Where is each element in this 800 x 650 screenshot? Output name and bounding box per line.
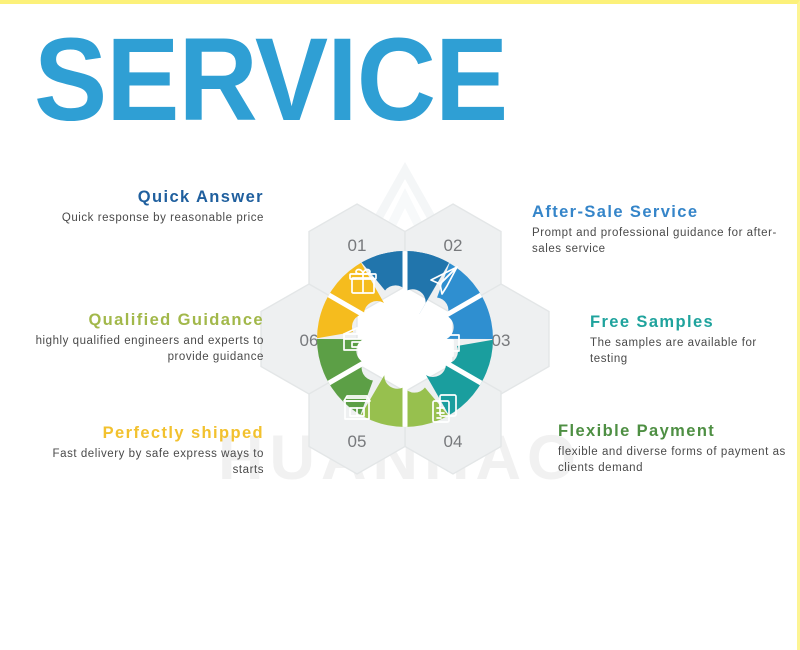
feature-body: Fast delivery by safe express ways to st… <box>20 447 264 478</box>
feature-after-sale-service: After-Sale Service Prompt and profession… <box>532 202 788 257</box>
wheel-hub <box>376 310 434 368</box>
service-infographic-slide: HUANHAO SERVICE 01 02 <box>0 0 800 650</box>
hexagon-puzzle-diagram: 01 02 03 04 05 06 <box>255 199 555 479</box>
hexagon-number-01: 01 <box>348 236 367 255</box>
hexagon-number-03: 03 <box>492 331 511 350</box>
feature-heading: After-Sale Service <box>532 202 788 223</box>
feature-body: flexible and diverse forms of payment as… <box>558 445 790 476</box>
feature-body: Quick response by reasonable price <box>20 211 264 227</box>
feature-heading: Perfectly shipped <box>20 423 264 444</box>
feature-qualified-guidance: Qualified Guidance highly qualified engi… <box>8 310 264 365</box>
feature-body: Prompt and professional guidance for aft… <box>532 226 788 257</box>
hexagon-number-02: 02 <box>444 236 463 255</box>
feature-body: The samples are available for testing <box>590 336 790 367</box>
feature-heading: Qualified Guidance <box>8 310 264 331</box>
feature-heading: Flexible Payment <box>558 421 790 442</box>
feature-heading: Free Samples <box>590 312 790 333</box>
feature-perfectly-shipped: Perfectly shipped Fast delivery by safe … <box>20 423 264 478</box>
page-title: SERVICE <box>34 20 507 140</box>
hexagon-number-04: 04 <box>444 432 463 451</box>
feature-body: highly qualified engineers and experts t… <box>8 334 264 365</box>
hexagon-number-05: 05 <box>348 432 367 451</box>
feature-free-samples: Free Samples The samples are available f… <box>590 312 790 367</box>
feature-flexible-payment: Flexible Payment flexible and diverse fo… <box>558 421 790 476</box>
feature-quick-answer: Quick Answer Quick response by reasonabl… <box>20 187 264 227</box>
feature-heading: Quick Answer <box>20 187 264 208</box>
hexagon-number-06: 06 <box>300 331 319 350</box>
